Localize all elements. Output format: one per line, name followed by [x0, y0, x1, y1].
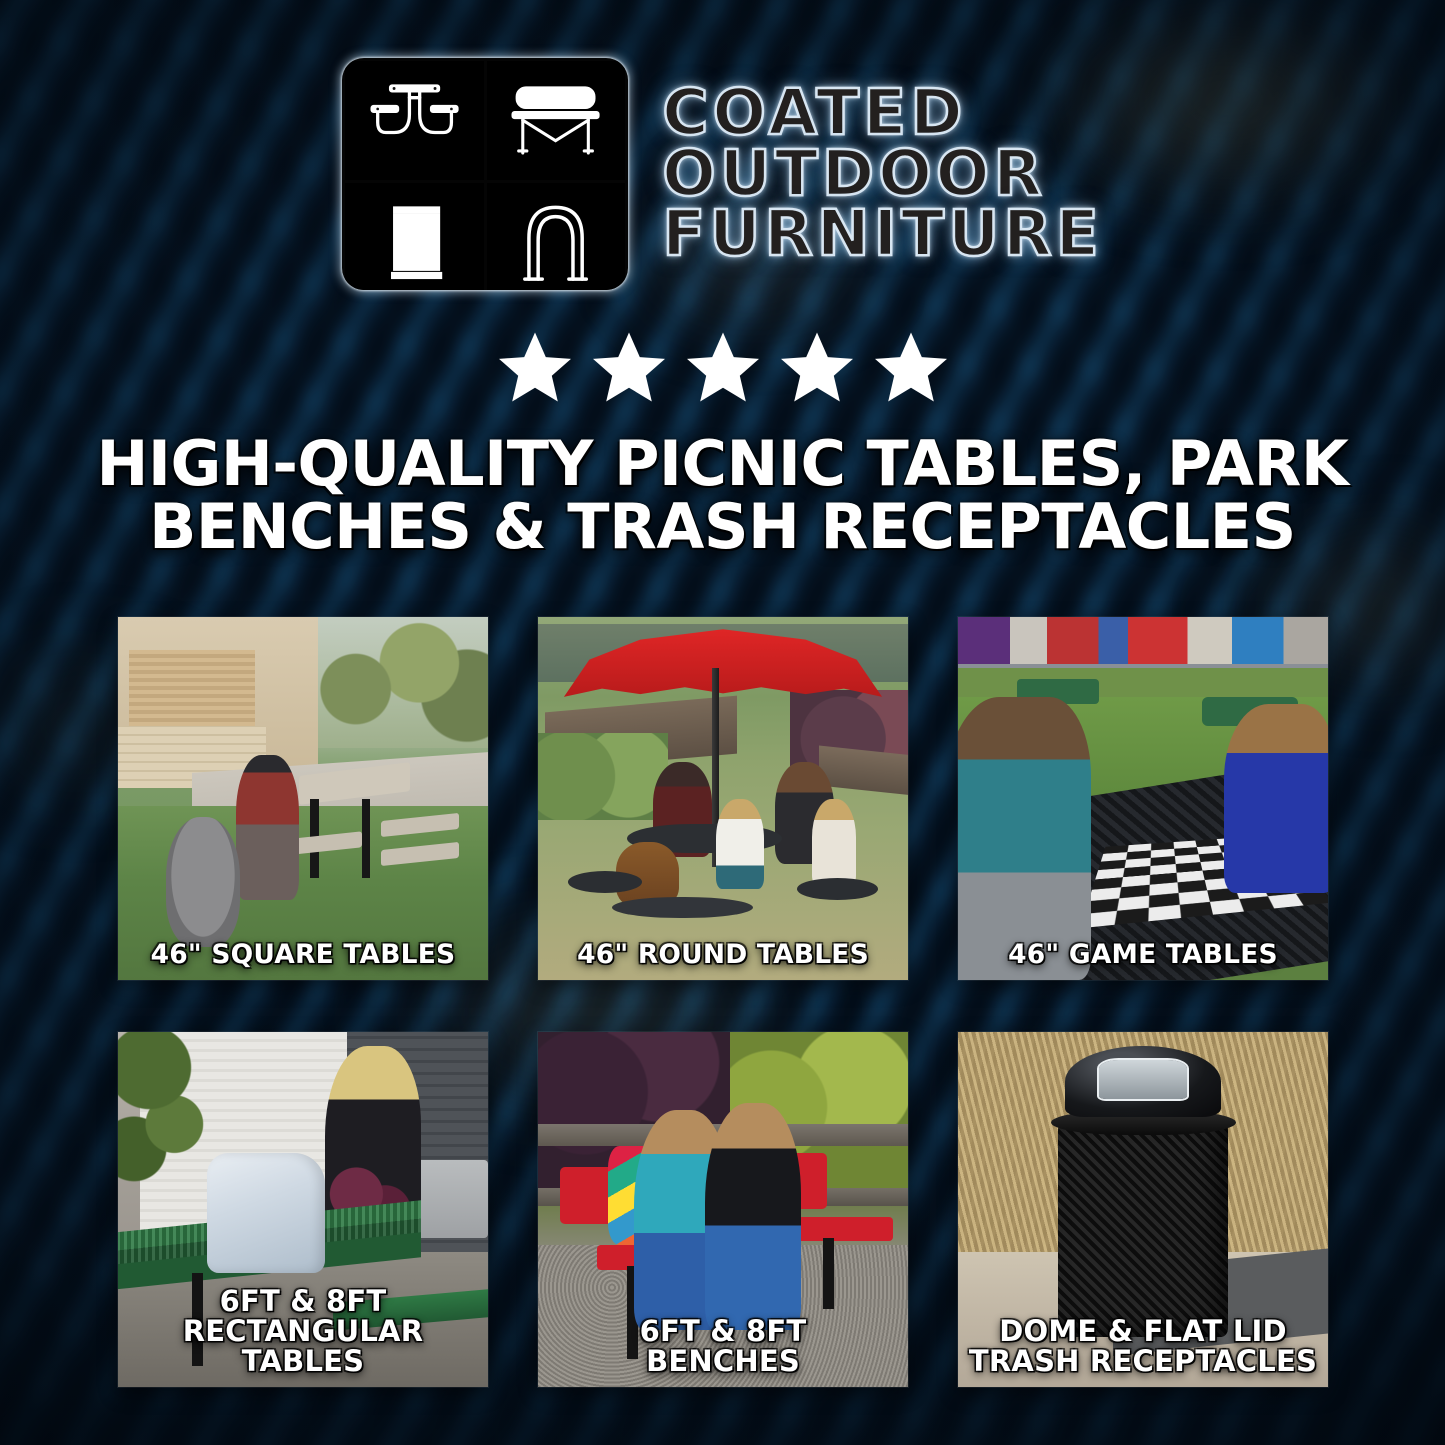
headline-line-1: HIGH-QUALITY PICNIC TABLES, PARK [60, 432, 1385, 495]
star-icon [875, 332, 947, 402]
product-tile-benches[interactable]: 6FT & 8FT BENCHES [538, 1032, 908, 1387]
park-bench-icon [487, 61, 626, 180]
product-photo-round-tables [538, 617, 908, 980]
product-caption: 6FT & 8FT BENCHES [544, 1317, 902, 1377]
product-caption: 46" GAME TABLES [964, 941, 1322, 968]
product-caption: 6FT & 8FT RECTANGULAR TABLES [124, 1287, 482, 1377]
brand-word-coated: COATED [662, 83, 1103, 143]
product-tile-game-tables[interactable]: 46" GAME TABLES [958, 617, 1328, 980]
star-icon [499, 332, 571, 402]
product-caption: DOME & FLAT LID TRASH RECEPTACLES [964, 1317, 1322, 1377]
product-tile-rectangular-tables[interactable]: 6FT & 8FT RECTANGULAR TABLES [118, 1032, 488, 1387]
product-photo-square-tables [118, 617, 488, 980]
brand-header: COATED OUTDOOR FURNITURE [0, 58, 1445, 290]
brand-word-outdoor: OUTDOOR [662, 144, 1103, 204]
product-caption: 46" ROUND TABLES [544, 941, 902, 968]
picnic-table-icon [345, 61, 484, 180]
star-icon [687, 332, 759, 402]
headline-line-2: BENCHES & TRASH RECEPTACLES [60, 495, 1385, 558]
product-grid: 46" SQUARE TABLES 46" ROUND TABLES [118, 617, 1327, 1387]
trash-receptacle-icon [345, 183, 484, 290]
product-photo-game-tables [958, 617, 1328, 980]
page-title: HIGH-QUALITY PICNIC TABLES, PARK BENCHES… [60, 432, 1385, 558]
product-caption: 46" SQUARE TABLES [124, 941, 482, 968]
brand-logo-mark [342, 58, 628, 290]
star-icon [781, 332, 853, 402]
product-tile-round-tables[interactable]: 46" ROUND TABLES [538, 617, 908, 980]
brand-word-furniture: FURNITURE [662, 204, 1103, 264]
brand-wordmark: COATED OUTDOOR FURNITURE [662, 83, 1103, 264]
star-rating [0, 332, 1445, 402]
bike-rack-icon [487, 183, 626, 290]
promo-banner: COATED OUTDOOR FURNITURE HIGH-QUALITY PI… [0, 0, 1445, 1445]
product-tile-trash-receptacles[interactable]: DOME & FLAT LID TRASH RECEPTACLES [958, 1032, 1328, 1387]
star-icon [593, 332, 665, 402]
product-tile-square-tables[interactable]: 46" SQUARE TABLES [118, 617, 488, 980]
